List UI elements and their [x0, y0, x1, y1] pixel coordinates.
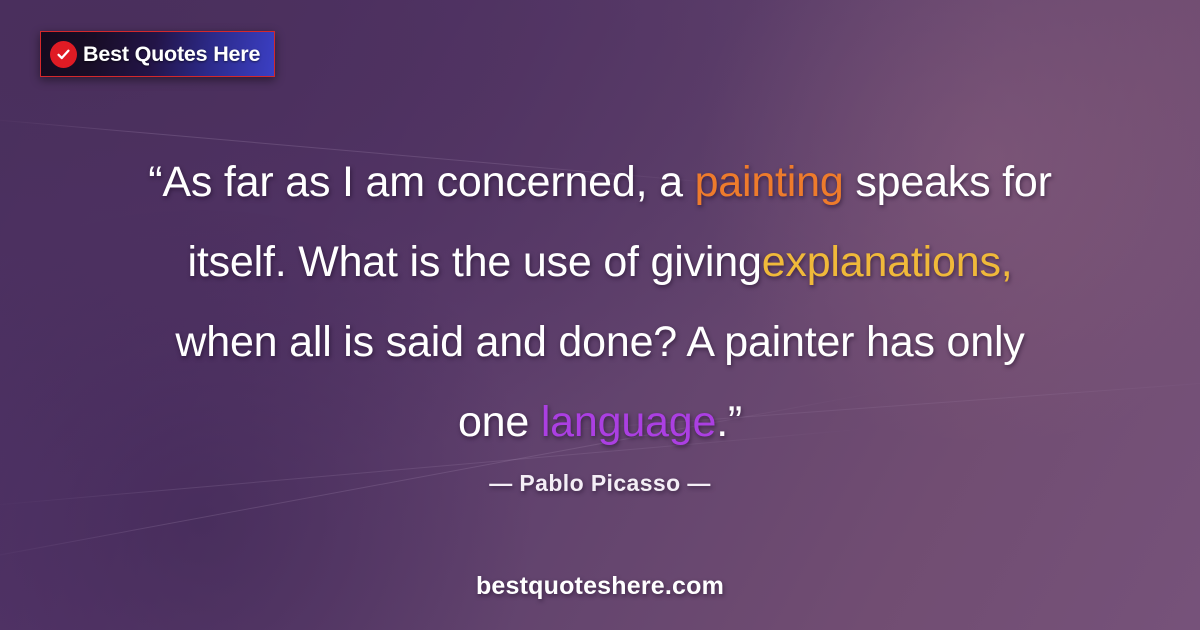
check-circle-icon	[50, 41, 77, 68]
quote-line-1: “As far as I am concerned, a painting sp…	[60, 142, 1140, 222]
brand-badge-label: Best Quotes Here	[83, 42, 260, 67]
quote-segment: “As far as I am concerned, a	[148, 158, 694, 206]
quote-highlight-language: language	[541, 398, 716, 446]
quote-highlight-painting: painting	[695, 158, 844, 206]
quote-segment: one	[458, 398, 541, 446]
quote-segment: ,	[1001, 238, 1013, 286]
quote-segment: when all is said and done? A painter has…	[175, 318, 1024, 366]
website-url: bestquoteshere.com	[0, 572, 1200, 601]
quote-segment: itself. What is the use of giving	[188, 238, 762, 286]
quote-text: “As far as I am concerned, a painting sp…	[0, 142, 1200, 462]
quote-line-3: when all is said and done? A painter has…	[60, 302, 1140, 382]
quote-segment: .”	[716, 398, 742, 446]
quote-line-2: itself. What is the use of givingexplana…	[60, 222, 1140, 302]
quote-attribution: — Pablo Picasso —	[0, 470, 1200, 497]
quote-poster: Best Quotes Here “As far as I am concern…	[0, 0, 1200, 630]
quote-line-4: one language.”	[60, 382, 1140, 462]
quote-segment: speaks for	[844, 158, 1052, 206]
brand-badge[interactable]: Best Quotes Here	[40, 31, 275, 77]
quote-highlight-explanations: explanations	[762, 238, 1001, 286]
